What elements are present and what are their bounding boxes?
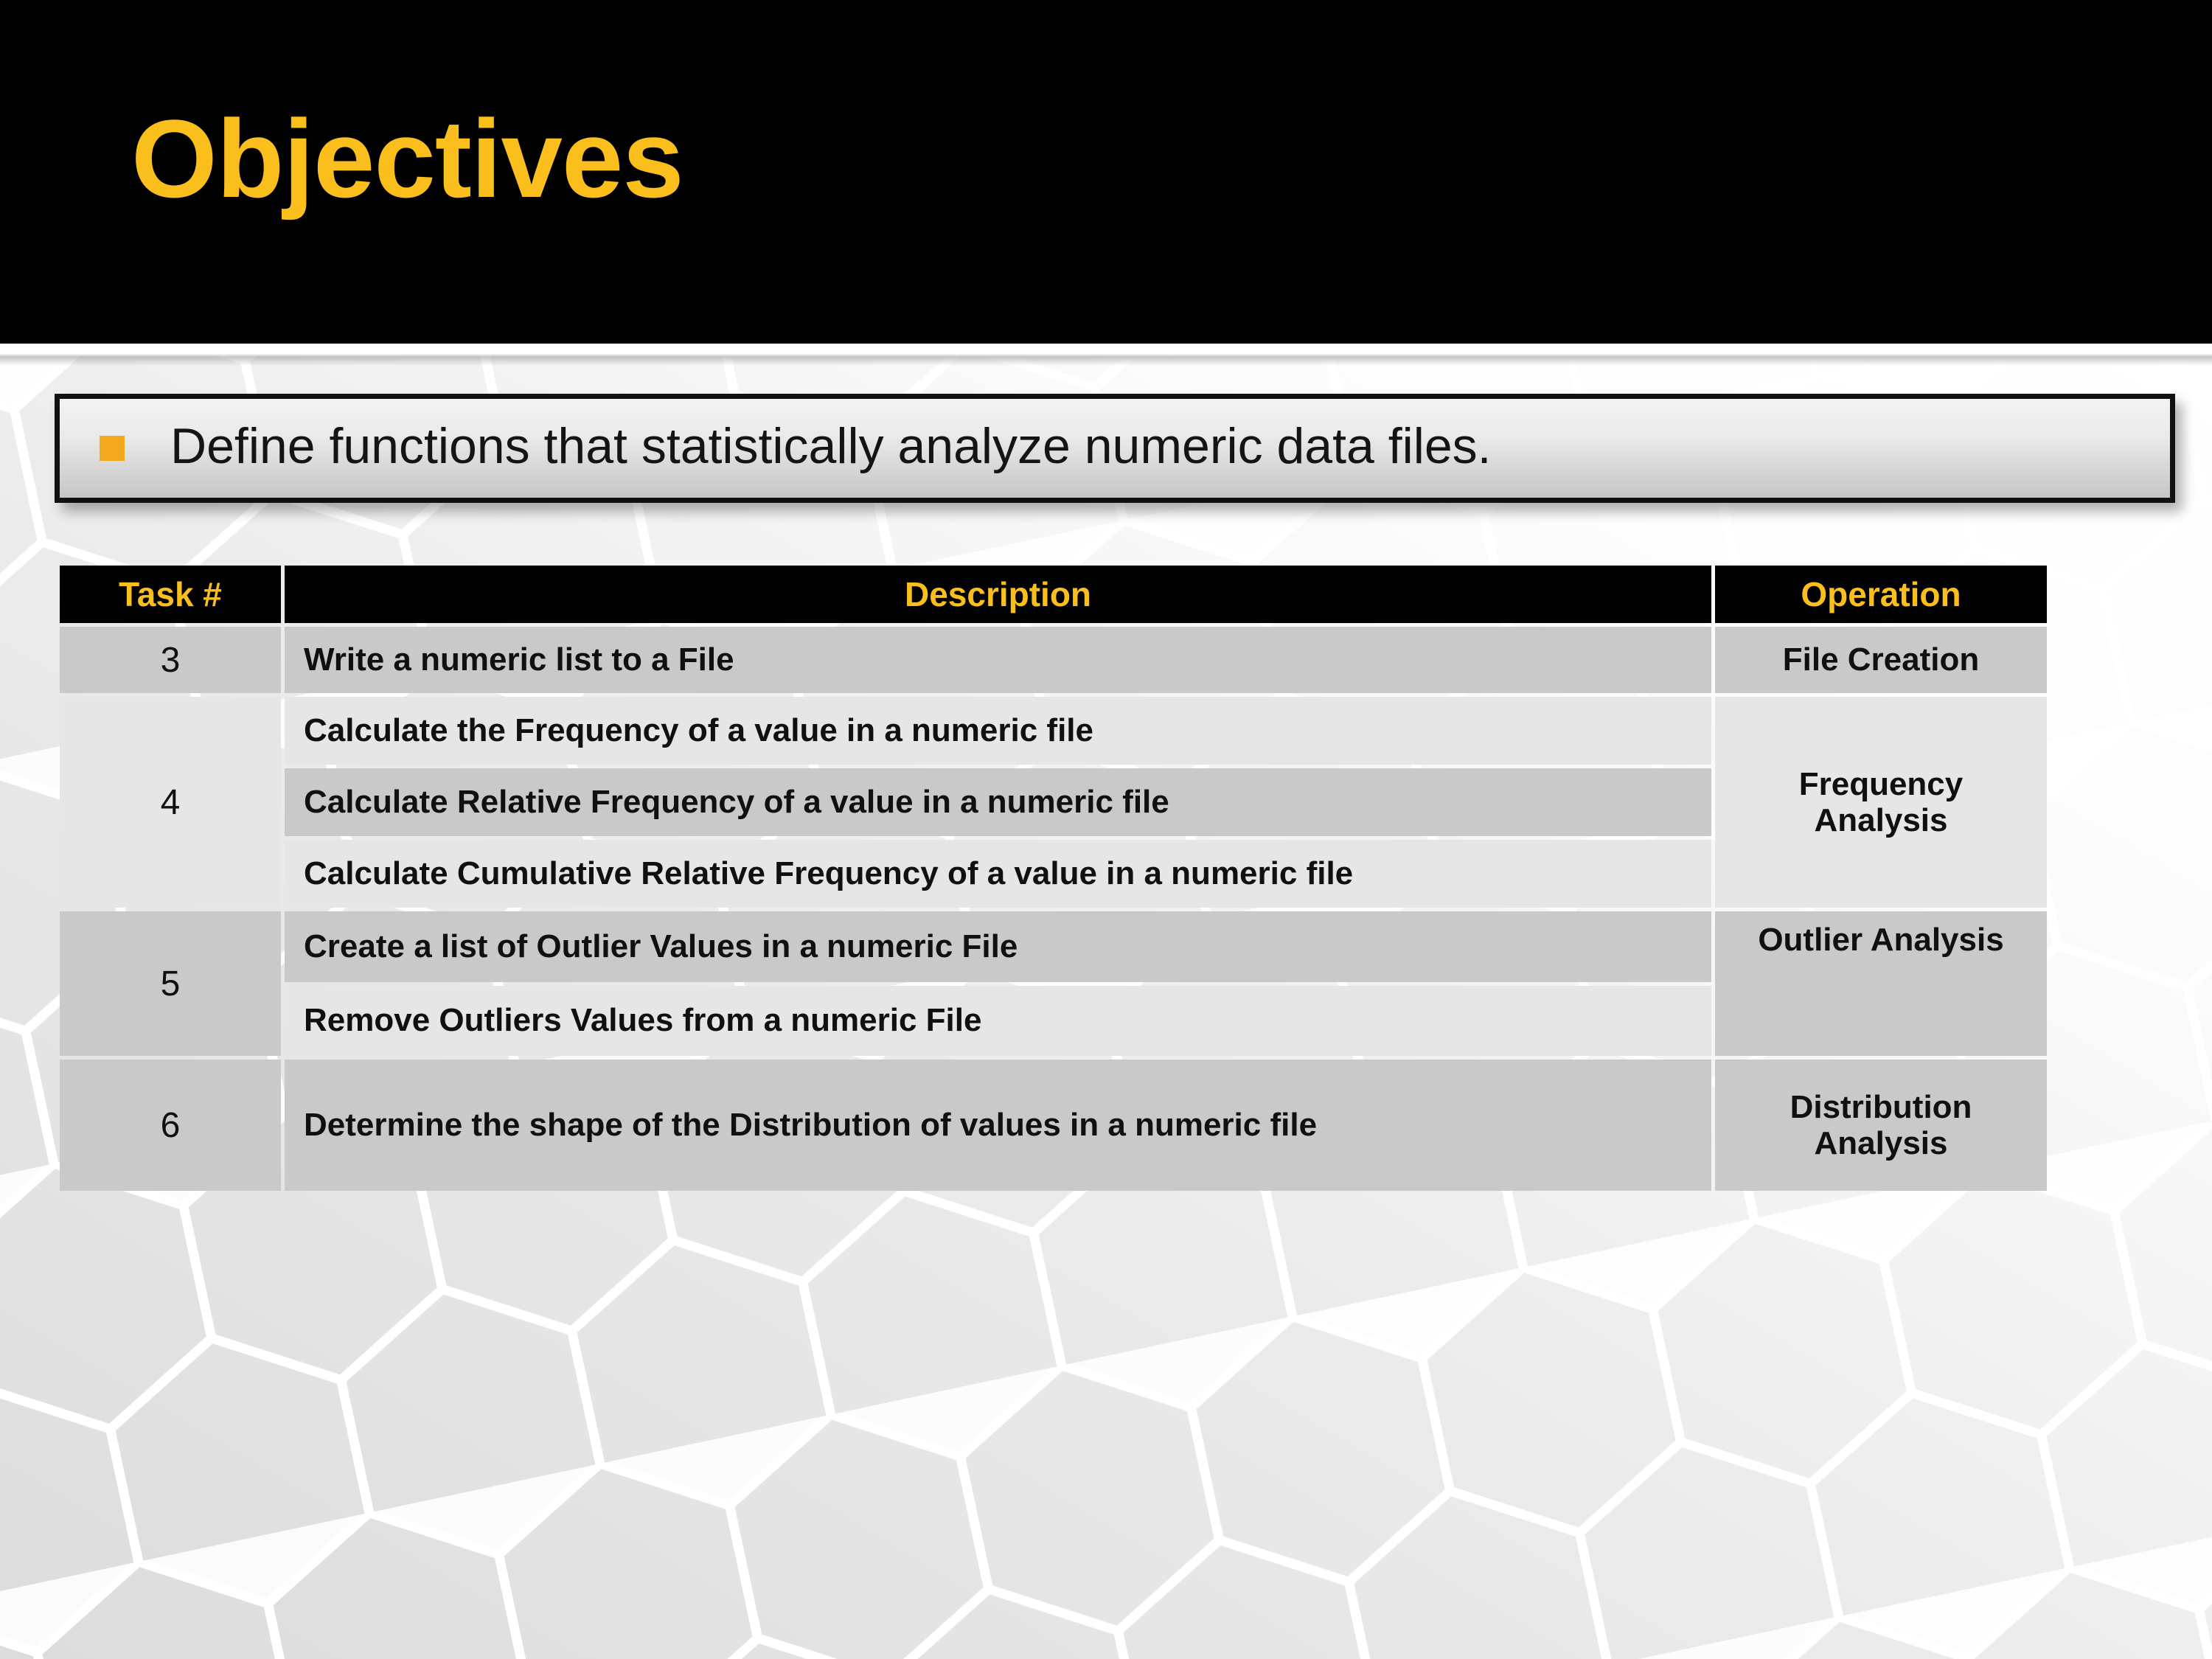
cell-description: Calculate the Frequency of a value in a … (285, 697, 1711, 765)
cell-description: Calculate Relative Frequency of a value … (285, 768, 1711, 836)
operation-line: Frequency (1715, 766, 2047, 802)
operation-line: Analysis (1715, 1125, 2047, 1161)
table-header-row: Task # Description Operation (60, 566, 2047, 623)
cell-task-number: 4 (60, 697, 281, 908)
cell-operation: Frequency Analysis (1715, 697, 2047, 908)
title-band: Objectives (0, 0, 2212, 344)
column-header-task: Task # (60, 566, 281, 623)
column-header-description: Description (285, 566, 1711, 623)
column-header-operation: Operation (1715, 566, 2047, 623)
cell-description: Create a list of Outlier Values in a num… (285, 911, 1711, 982)
cell-operation: Outlier Analysis (1715, 911, 2047, 1056)
cell-task-number: 5 (60, 911, 281, 1056)
cell-task-number: 3 (60, 627, 281, 693)
objective-text: Define functions that statistically anal… (170, 421, 1492, 471)
square-bullet-icon (100, 436, 125, 461)
cell-operation: File Creation (1715, 627, 2047, 693)
table-row: 4 Calculate the Frequency of a value in … (60, 697, 2047, 765)
cell-operation: Distribution Analysis (1715, 1060, 2047, 1191)
cell-description: Calculate Cumulative Relative Frequency … (285, 840, 1711, 908)
cell-description: Remove Outliers Values from a numeric Fi… (285, 986, 1711, 1057)
slide-root: Objectives Define functions that statist… (0, 0, 2212, 1659)
table-row: 3 Write a numeric list to a File File Cr… (60, 627, 2047, 693)
cell-description: Write a numeric list to a File (285, 627, 1711, 693)
cell-description: Determine the shape of the Distribution … (285, 1060, 1711, 1191)
operation-line: Analysis (1715, 802, 2047, 838)
operation-line: Distribution (1715, 1089, 2047, 1125)
table-row: 5 Create a list of Outlier Values in a n… (60, 911, 2047, 982)
cell-task-number: 6 (60, 1060, 281, 1191)
objective-callout: Define functions that statistically anal… (55, 394, 2175, 503)
page-title: Objectives (131, 103, 684, 214)
table-row: 6 Determine the shape of the Distributio… (60, 1060, 2047, 1191)
task-table: Task # Description Operation 3 Write a n… (56, 562, 2051, 1194)
